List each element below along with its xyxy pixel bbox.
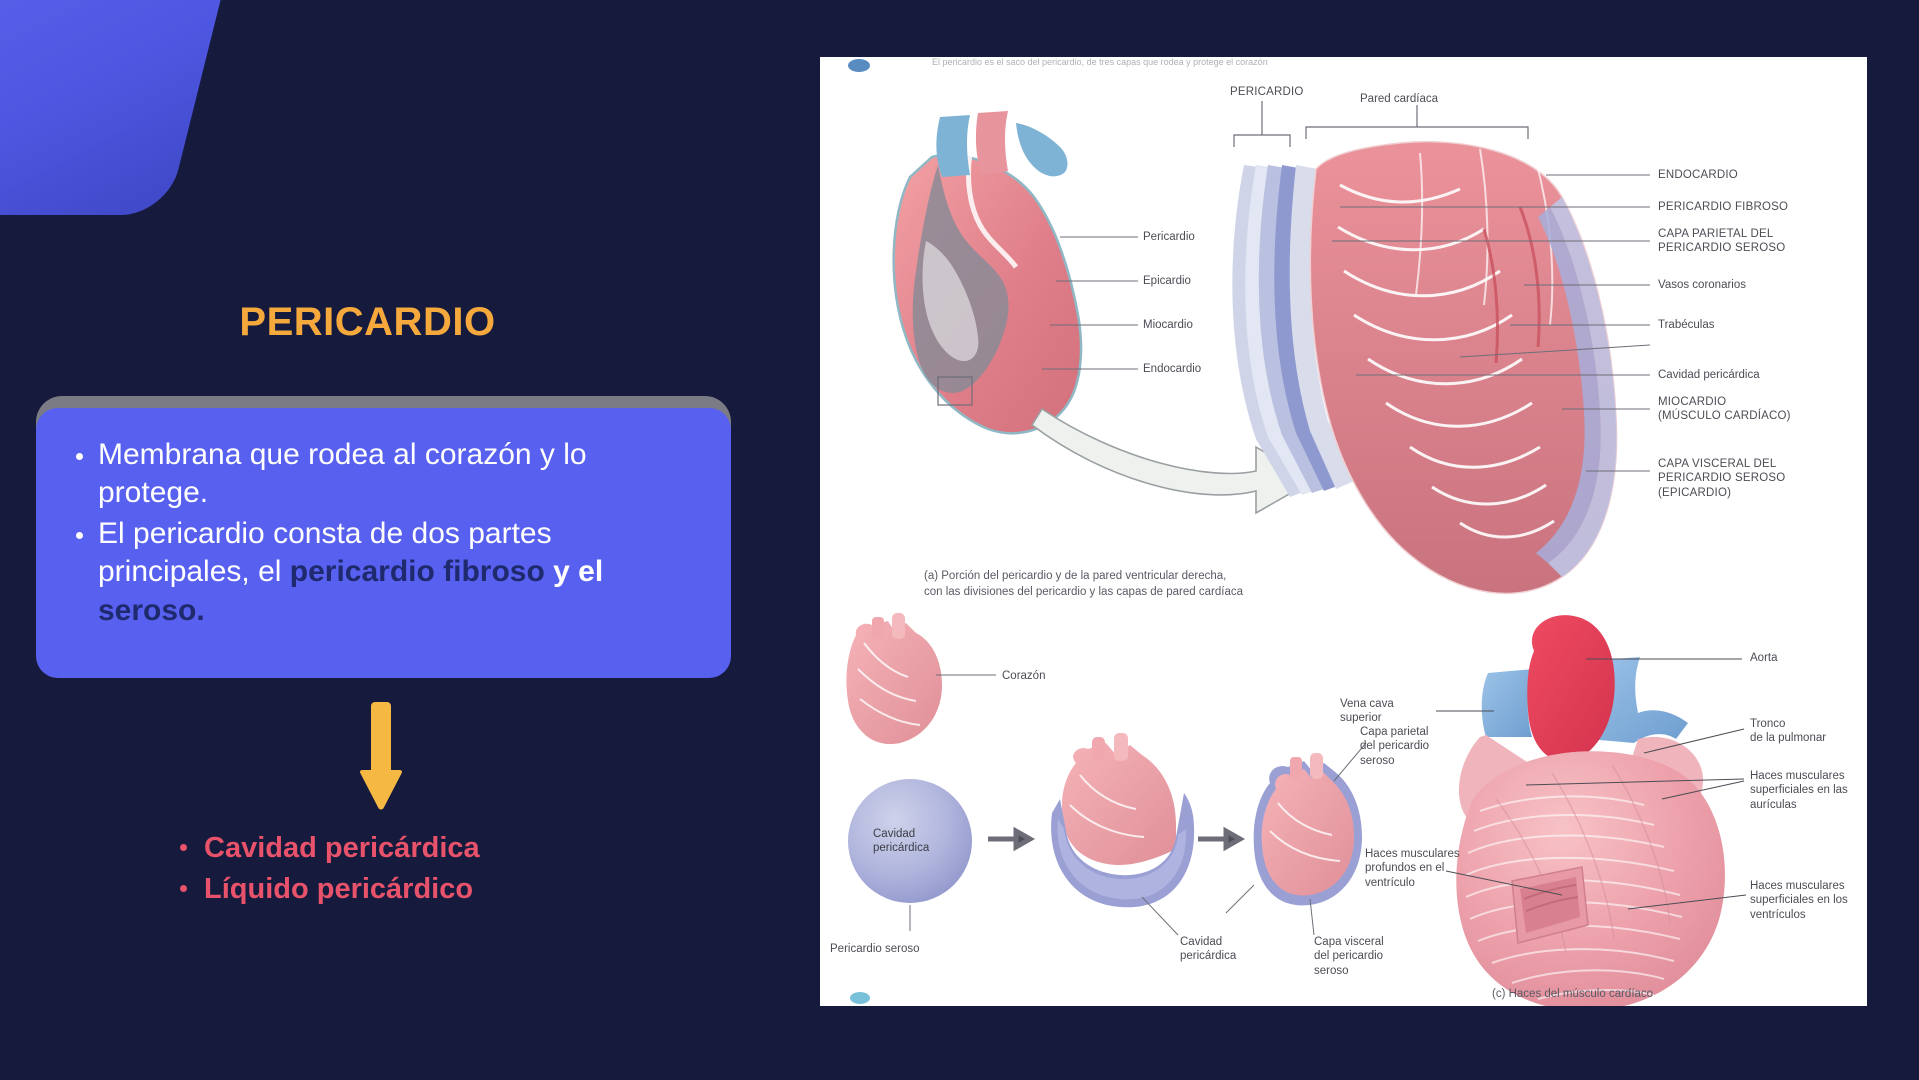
list-item: El pericardio consta de dos partes princ… xyxy=(70,515,697,630)
label-haces-profundos-ventriculo: Haces musculares profundos en el ventríc… xyxy=(1365,847,1460,890)
label-vasos-coronarios: Vasos coronarios xyxy=(1658,278,1746,292)
label-pericardio: Pericardio xyxy=(1143,230,1195,244)
list-item: Cavidad pericárdica xyxy=(178,828,480,869)
label-pericardio-seroso: Pericardio seroso xyxy=(830,942,919,956)
info-card: Membrana que rodea al corazón y lo prote… xyxy=(36,408,731,678)
heart-in-sac-stage-3 xyxy=(1254,753,1362,905)
bullet-text-2d: seroso xyxy=(98,594,196,627)
list-item: Membrana que rodea al corazón y lo prote… xyxy=(70,436,697,513)
ventricular-wall-illustration xyxy=(1232,142,1616,594)
down-arrow-icon xyxy=(358,700,404,812)
label-capa-visceral-pericardio-seroso: CAPA VISCERAL DEL PERICARDIO SEROSO (EPI… xyxy=(1658,457,1785,500)
label-epicardio: Epicardio xyxy=(1143,274,1191,288)
caption-panel-a: (a) Porción del pericardio y de la pared… xyxy=(924,569,1243,600)
label-cavidad-pericardica: Cavidad pericárdica xyxy=(1658,368,1760,382)
heart-cutaway-illustration xyxy=(894,111,1081,433)
bullet-text-2b: pericardio fibroso xyxy=(290,555,545,588)
slide-root: PERICARDIO Membrana que rodea al corazón… xyxy=(0,0,1919,1080)
info-bullet-list: Membrana que rodea al corazón y lo prote… xyxy=(70,436,697,630)
bullet-text-2e: . xyxy=(196,594,204,627)
label-cavidad-pericardica-sphere: Cavidad pericárdica xyxy=(873,827,929,856)
label-endocardio: Endocardio xyxy=(1143,362,1201,376)
label-corazon: Corazón xyxy=(1002,669,1045,683)
caption-panel-c: (c) Haces del músculo cardíaco xyxy=(1492,987,1653,1003)
label-pared-cardiaca: Pared cardíaca xyxy=(1360,92,1438,106)
label-haces-superficiales-auriculas: Haces musculares superficiales en las au… xyxy=(1750,769,1848,812)
small-heart-icon xyxy=(846,613,942,744)
label-capa-visceral-seroso: Capa visceral del pericardio seroso xyxy=(1314,935,1384,978)
bullet-text-1: Membrana que rodea al corazón y lo prote… xyxy=(98,438,587,509)
heart-in-sac-stage-2 xyxy=(1051,733,1194,907)
label-tronco-pulmonar: Tronco de la pulmonar xyxy=(1750,717,1826,746)
label-trabeculas: Trabéculas xyxy=(1658,318,1714,332)
page-title: PERICARDIO xyxy=(0,300,735,345)
list-item: Líquido pericárdico xyxy=(178,869,480,910)
label-aorta: Aorta xyxy=(1750,651,1778,665)
label-cavidad-pericardica-stage2: Cavidad pericárdica xyxy=(1180,935,1236,964)
red-bullet-list: Cavidad pericárdica Líquido pericárdico xyxy=(178,828,480,910)
label-miocardio: Miocardio xyxy=(1143,318,1193,332)
bullet-text-2c: y el xyxy=(545,555,603,588)
label-pericardio-bracket: PERICARDIO xyxy=(1230,85,1304,99)
anatomy-figure-image: El pericardio es el saco del pericardio,… xyxy=(820,57,1867,1006)
label-endocardio-caps: ENDOCARDIO xyxy=(1658,168,1738,182)
label-haces-superficiales-ventriculos: Haces musculares superficiales en los ve… xyxy=(1750,879,1848,922)
label-vena-cava-superior: Vena cava superior xyxy=(1340,697,1394,726)
left-content-column: PERICARDIO Membrana que rodea al corazón… xyxy=(0,0,735,1080)
label-pericardio-fibroso: PERICARDIO FIBROSO xyxy=(1658,200,1788,214)
label-miocardio-musculo-cardiaco: MIOCARDIO (MÚSCULO CARDÍACO) xyxy=(1658,395,1791,424)
label-capa-parietal-pericardio-seroso: CAPA PARIETAL DEL PERICARDIO SEROSO xyxy=(1658,227,1785,256)
